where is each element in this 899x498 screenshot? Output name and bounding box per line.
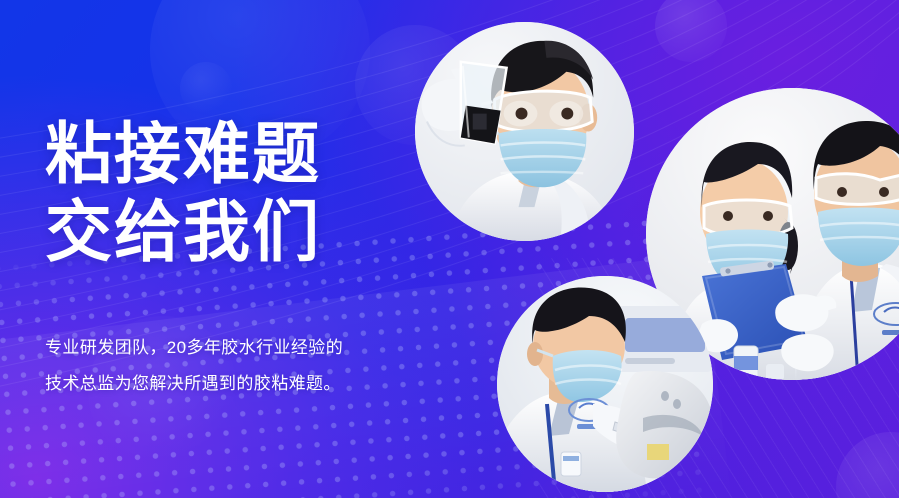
headline-line-2: 交给我们 <box>45 194 465 272</box>
subtitle-line-1: 专业研发团队，20多年胶水行业经验的 <box>45 330 465 366</box>
headline-block: 粘接难题 交给我们 <box>45 116 465 272</box>
soft-circle-icon <box>180 62 232 114</box>
headline-line-1: 粘接难题 <box>45 116 465 194</box>
soft-circle-icon <box>655 0 727 62</box>
promo-banner: 粘接难题 交给我们 专业研发团队，20多年胶水行业经验的 技术总监为您解决所遇到… <box>0 0 899 498</box>
soft-circle-icon <box>836 432 899 498</box>
page-title: 粘接难题 交给我们 <box>45 116 465 272</box>
subtitle-line-2: 技术总监为您解决所遇到的胶粘难题。 <box>45 366 465 402</box>
scientist-with-beaker-photo <box>415 22 634 241</box>
subtitle-block: 专业研发团队，20多年胶水行业经验的 技术总监为您解决所遇到的胶粘难题。 <box>45 330 465 402</box>
technician-bonding-photo <box>497 276 713 492</box>
